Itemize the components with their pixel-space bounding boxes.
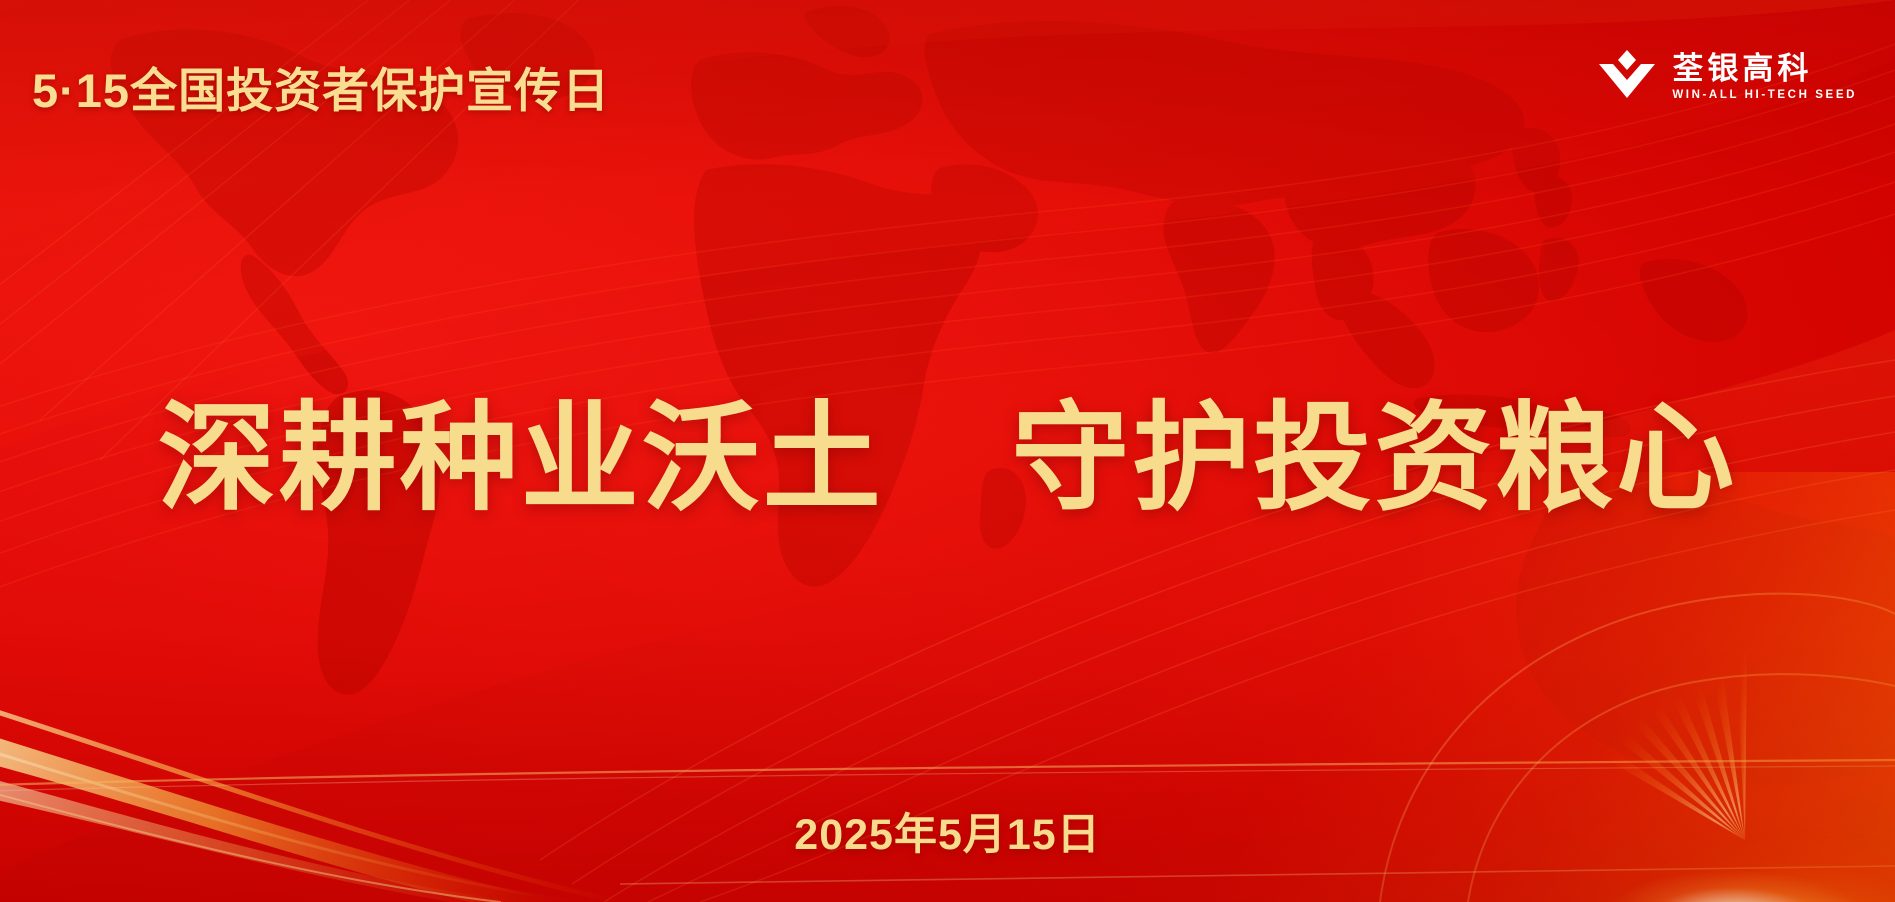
promotional-banner: 5·15全国投资者保护宣传日 荃银高科 WIN-ALL HI-TECH SEED… bbox=[0, 0, 1895, 902]
main-slogan-part2: 守护投资粮心 bbox=[1011, 393, 1737, 525]
winall-chevron-diamond-icon bbox=[1596, 48, 1658, 106]
main-slogan: 深耕种业沃土 守护投资粮心 bbox=[0, 400, 1895, 518]
logo-wordmark: 荃银高科 WIN-ALL HI-TECH SEED bbox=[1672, 53, 1857, 102]
company-logo: 荃银高科 WIN-ALL HI-TECH SEED bbox=[1596, 48, 1857, 106]
campaign-header-title: 5·15全国投资者保护宣传日 bbox=[32, 52, 610, 121]
main-slogan-part1: 深耕种业沃土 bbox=[158, 393, 884, 525]
logo-company-cn: 荃银高科 bbox=[1672, 53, 1812, 86]
logo-company-en: WIN-ALL HI-TECH SEED bbox=[1672, 89, 1857, 101]
event-date: 2025年5月15日 bbox=[0, 800, 1895, 862]
